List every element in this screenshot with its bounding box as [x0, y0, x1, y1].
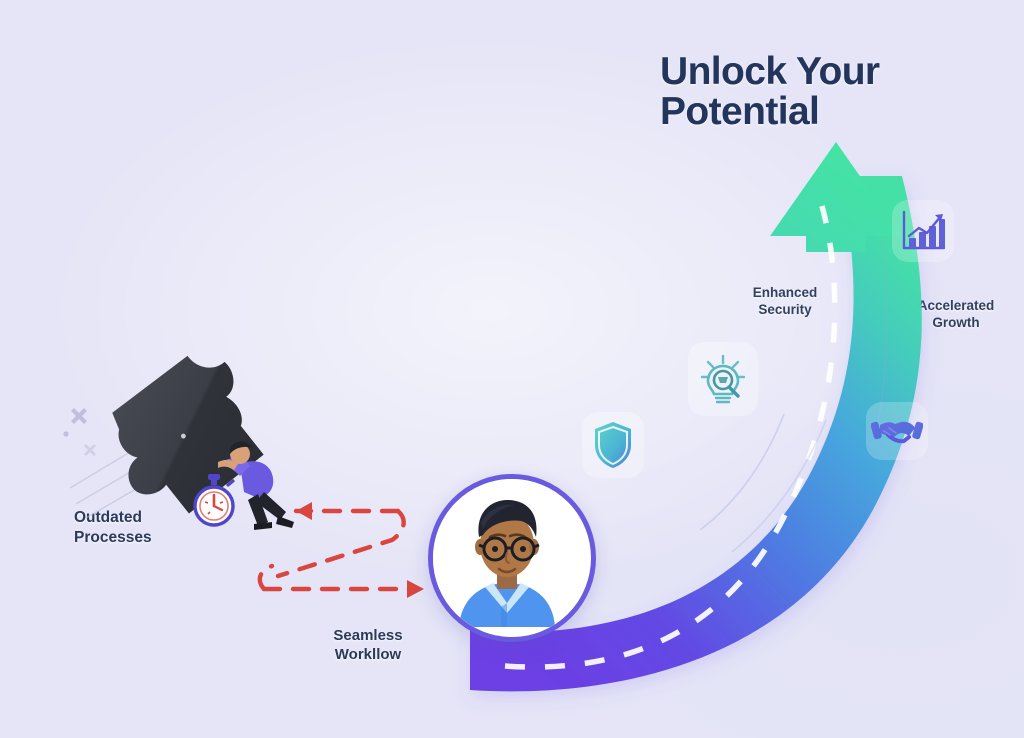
bar-chart-growth-icon [897, 206, 949, 256]
lightbulb-magnifier-icon [696, 350, 750, 408]
shield-icon-card [582, 412, 644, 478]
infographic-canvas: Unlock Your Potential Outdated Processes… [0, 0, 1024, 738]
handshake-icon-card [866, 402, 928, 460]
puzzle-piece-group [58, 336, 308, 536]
avatar[interactable] [428, 474, 596, 642]
handshake-icon [871, 411, 923, 451]
bar-chart-growth-icon-card [892, 200, 954, 262]
red-arrow-bend-left [260, 566, 272, 589]
stopwatch-icon [186, 472, 242, 530]
shield-icon [590, 419, 636, 471]
lightbulb-magnifier-icon-card [688, 342, 758, 416]
red-arrowhead-right [407, 580, 424, 598]
